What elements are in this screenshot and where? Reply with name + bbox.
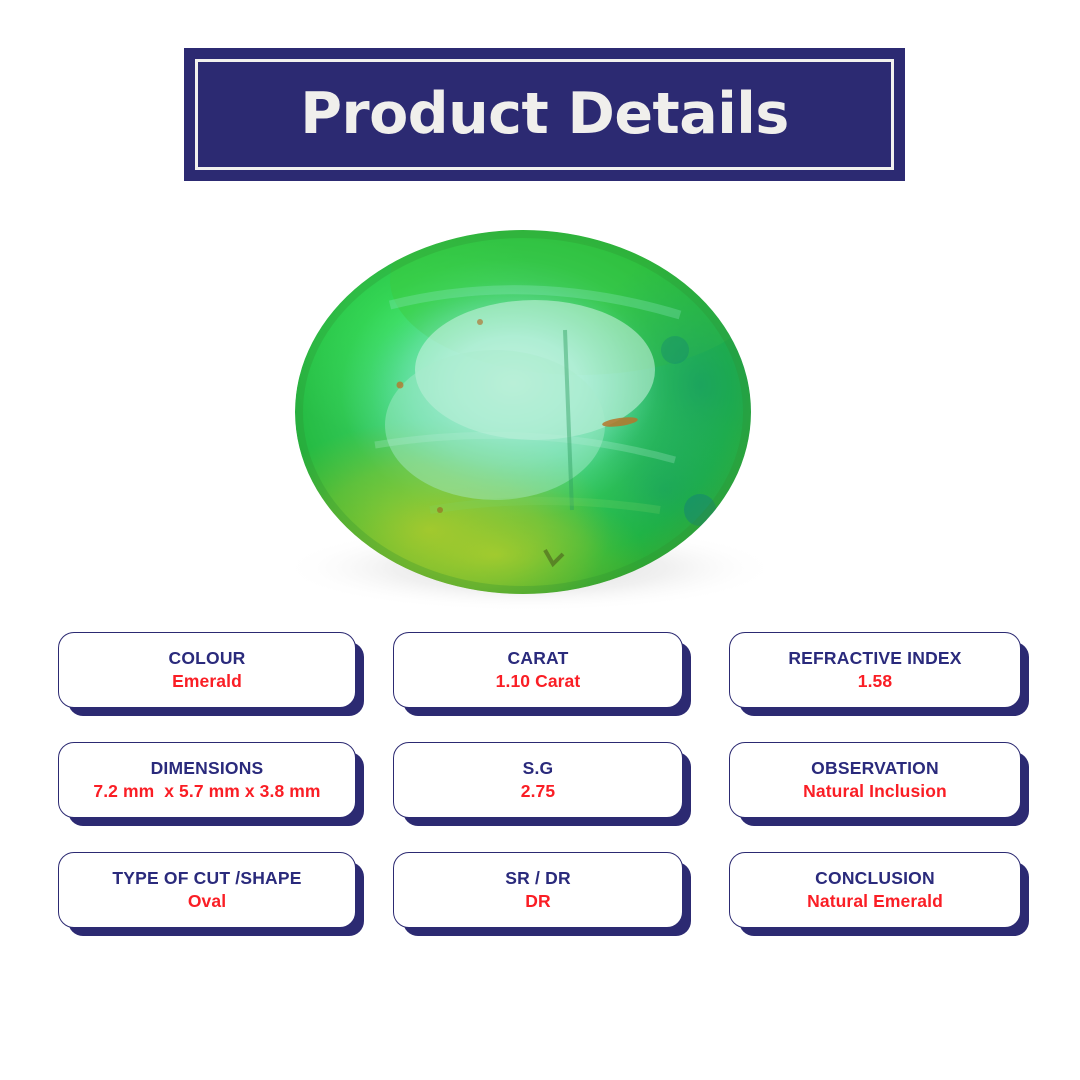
spec-value: Natural Emerald [807,892,943,911]
spec-value: 2.75 [521,782,555,801]
spec-label: SR / DR [505,869,571,888]
inclusion-mark [661,336,689,364]
page-header-banner: Product Details [184,48,905,181]
spec-label: DIMENSIONS [151,759,264,778]
spec-card-sg: S.G 2.75 [393,742,683,818]
spec-value: DR [525,892,550,911]
banner-inner-border: Product Details [195,59,894,170]
spec-value: 1.10 Carat [496,672,581,691]
spec-card-carat: CARAT 1.10 Carat [393,632,683,708]
page-title: Product Details [300,86,789,143]
spec-label: CONCLUSION [815,869,935,888]
spec-value: 1.58 [858,672,892,691]
spec-value: 7.2 mm x 5.7 mm x 3.8 mm [93,782,320,801]
specs-row: DIMENSIONS 7.2 mm x 5.7 mm x 3.8 mm S.G … [0,742,1080,852]
spec-label: REFRACTIVE INDEX [788,649,961,668]
specs-row: COLOUR Emerald CARAT 1.10 Carat REFRACTI… [0,632,1080,742]
spec-card-refractive-index: REFRACTIVE INDEX 1.58 [729,632,1021,708]
spec-card-dimensions: DIMENSIONS 7.2 mm x 5.7 mm x 3.8 mm [58,742,356,818]
spec-value: Emerald [172,672,242,691]
inclusion-mark [437,507,443,513]
spec-label: S.G [523,759,554,778]
spec-value: Oval [188,892,226,911]
product-specs-grid: COLOUR Emerald CARAT 1.10 Carat REFRACTI… [0,632,1080,962]
spec-label: OBSERVATION [811,759,939,778]
spec-label: COLOUR [168,649,245,668]
spec-card-sr-dr: SR / DR DR [393,852,683,928]
specs-row: TYPE OF CUT /SHAPE Oval SR / DR DR CONCL… [0,852,1080,962]
emerald-gemstone-photo [280,210,800,620]
spec-label: TYPE OF CUT /SHAPE [112,869,301,888]
inclusion-mark [477,319,483,325]
spec-card-colour: COLOUR Emerald [58,632,356,708]
spec-card-conclusion: CONCLUSION Natural Emerald [729,852,1021,928]
inclusion-mark [397,382,404,389]
product-image-container [280,210,800,620]
spec-value: Natural Inclusion [803,782,947,801]
spec-label: CARAT [508,649,569,668]
spec-card-observation: OBSERVATION Natural Inclusion [729,742,1021,818]
spec-card-type-of-cut-shape: TYPE OF CUT /SHAPE Oval [58,852,356,928]
